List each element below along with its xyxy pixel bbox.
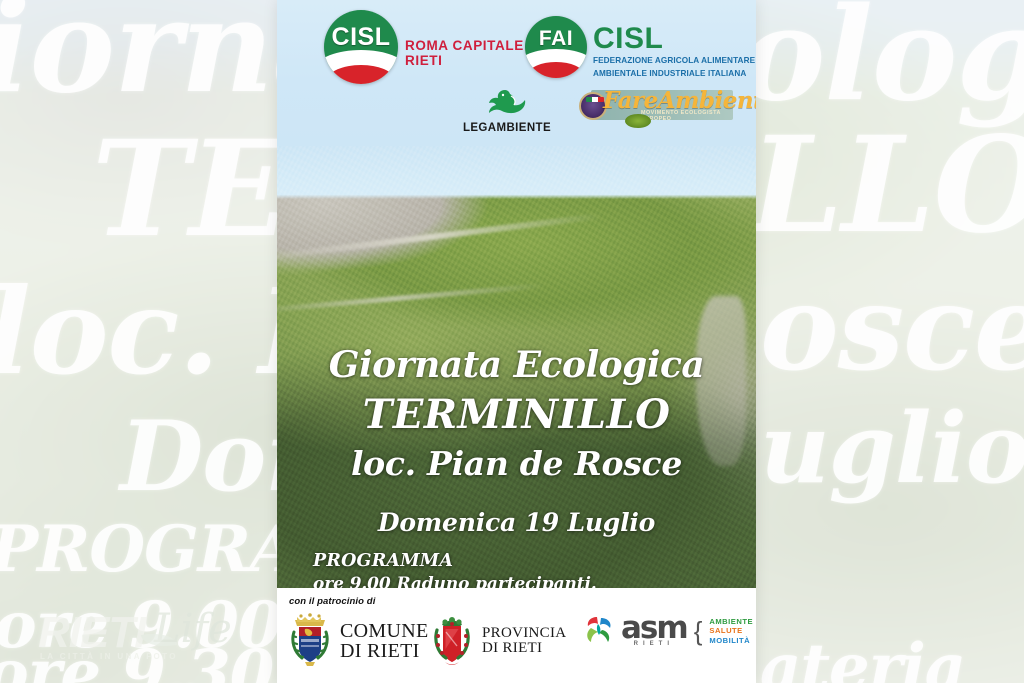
- cisl-line-2: RIETI: [405, 53, 524, 68]
- asm-wordmark: asm: [621, 615, 687, 643]
- poster-footer: con il patrocinio di: [277, 588, 756, 683]
- fareambiente-logo: FareAmbiente MOVIMENTO ECOLOGISTA EUROPE…: [567, 88, 733, 132]
- cisl-line-1: ROMA CAPITALE: [405, 38, 524, 53]
- fai-cisl-wordmark: CISL: [593, 24, 755, 54]
- patronage-label: con il patrocinio di: [289, 596, 375, 607]
- poster-photo: Giornata Ecologica TERMINILLO loc. Pian …: [277, 146, 756, 588]
- fai-logo-mark: FAI: [525, 16, 587, 78]
- poster-logo-header: CISL ROMA CAPITALE RIETI FAI CISL FEDERA…: [277, 0, 756, 146]
- sponsor-asm-rieti: asm RIETI { AMBIENTE SALUTE MOBILITÀ: [582, 614, 753, 648]
- poster-subtitle-location: TERMINILLO: [277, 391, 756, 438]
- fareambiente-subtitle: MOVIMENTO ECOLOGISTA EUROPEO: [641, 110, 733, 122]
- asm-tag: SALUTE: [709, 626, 753, 635]
- asm-tag: MOBILITÀ: [709, 636, 753, 645]
- asm-tag: AMBIENTE: [709, 617, 753, 626]
- program-block: PROGRAMMA ore 9.00 Raduno partecipanti. …: [313, 551, 736, 588]
- poster-subtitle-place: loc. Pian de Rosce: [277, 444, 756, 483]
- italian-flag-icon: [586, 97, 604, 102]
- background-word: TE: [92, 112, 289, 267]
- turtle-icon: [625, 114, 651, 128]
- legambiente-logo: LEGAMBIENTE: [455, 86, 559, 134]
- cisl-mark-text: CISL: [324, 23, 398, 52]
- legambiente-label: LEGAMBIENTE: [455, 122, 559, 134]
- cisl-logo-text: ROMA CAPITALE RIETI: [405, 38, 524, 68]
- comune-rieti-crest-icon: [287, 612, 333, 670]
- fai-mark-text: FAI: [525, 27, 587, 51]
- poster-title: Giornata Ecologica: [277, 344, 756, 386]
- poster-date: Domenica 19 Luglio: [277, 508, 756, 537]
- sponsor-line-1: PROVINCIA: [482, 626, 566, 641]
- asm-logo: asm RIETI { AMBIENTE SALUTE MOBILITÀ: [582, 614, 753, 648]
- fai-cisl-logo-text: CISL FEDERAZIONE AGRICOLA ALIMENTARE AMB…: [593, 24, 755, 79]
- fai-cisl-line-1: FEDERAZIONE AGRICOLA ALIMENTARE: [593, 56, 755, 67]
- cisl-logo-mark: CISL: [324, 10, 398, 84]
- event-poster: CISL ROMA CAPITALE RIETI FAI CISL FEDERA…: [277, 0, 756, 683]
- asm-taglines: AMBIENTE SALUTE MOBILITÀ: [709, 617, 753, 645]
- background-word: uglio: [760, 392, 1024, 505]
- secondary-logo-row: LEGAMBIENTE FareAmbiente MOVIMENTO ECOLO…: [277, 86, 756, 144]
- provincia-rieti-crest-icon: [429, 612, 475, 670]
- background-word: LLO: [750, 108, 1024, 263]
- sponsor-comune-di-rieti: COMUNE DI RIETI: [287, 612, 428, 670]
- program-item: ore 9.00 Raduno partecipanti.: [313, 573, 736, 588]
- program-heading: PROGRAMMA: [313, 551, 736, 571]
- primary-logo-row: CISL ROMA CAPITALE RIETI FAI CISL FEDERA…: [277, 6, 756, 86]
- swan-icon: [485, 86, 529, 120]
- sponsor-line-2: DI RIETI: [482, 641, 566, 656]
- background-word: osce: [760, 258, 1024, 397]
- butterfly-leaf-icon: [582, 614, 616, 648]
- fai-cisl-line-2: AMBIENTALE INDUSTRIALE ITALIANA: [593, 69, 755, 80]
- sponsor-name: PROVINCIA DI RIETI: [482, 626, 566, 657]
- sponsor-line-1: COMUNE: [340, 621, 428, 641]
- asm-divider: {: [694, 616, 703, 647]
- background-word: ateria: [760, 630, 965, 683]
- sponsor-name: COMUNE DI RIETI: [340, 621, 428, 662]
- sponsor-line-2: DI RIETI: [340, 641, 428, 661]
- sponsor-provincia-di-rieti: PROVINCIA DI RIETI: [429, 612, 566, 670]
